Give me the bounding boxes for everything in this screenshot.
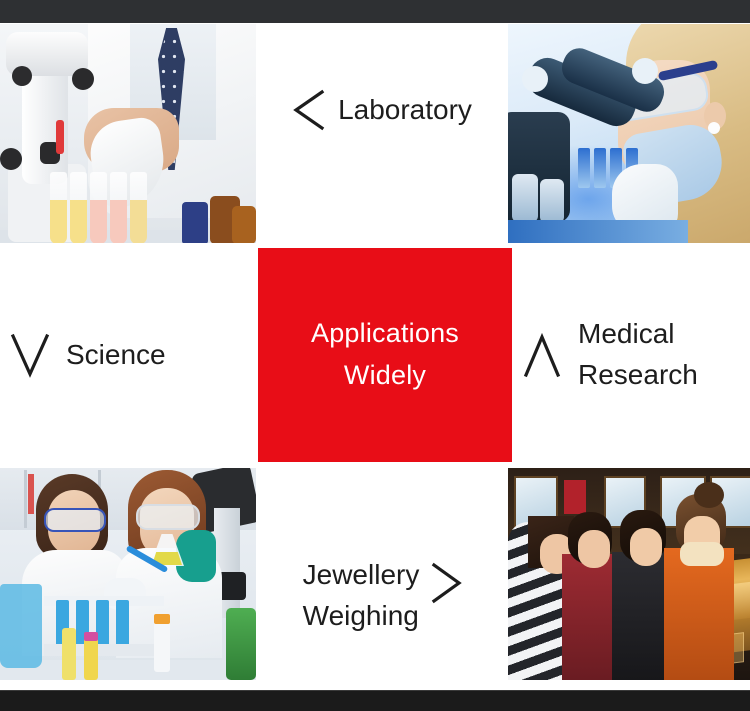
callout-line-2: Widely [311,355,459,397]
label-cell-medical-research: Medical Research [512,248,750,462]
chevron-right-icon [429,561,463,605]
applications-callout: Applications Widely [258,248,512,462]
photo-medical-researcher [508,24,750,243]
chevron-down-icon [6,330,54,380]
chevron-left-icon [292,88,326,132]
label-cell-science: Science [0,248,258,462]
bottom-browser-bar [0,690,750,711]
label-science: Science [66,335,166,375]
photo-jewellery-shop [508,468,750,680]
callout-line-1: Applications [311,313,459,355]
label-medical-research: Medical Research [578,314,698,395]
label-jewellery-weighing: Jewellery Weighing [303,555,420,636]
grid-stage: Laboratory [0,24,750,680]
photo-science-lab [0,468,256,680]
label-cell-jewellery-weighing: Jewellery Weighing [258,462,508,680]
label-cell-laboratory: Laboratory [256,24,508,248]
top-browser-bar [0,0,750,23]
application-banner: Laboratory [0,0,750,710]
photo-laboratory-technician [0,24,256,243]
chevron-up-icon [518,329,566,381]
label-laboratory: Laboratory [338,90,472,130]
